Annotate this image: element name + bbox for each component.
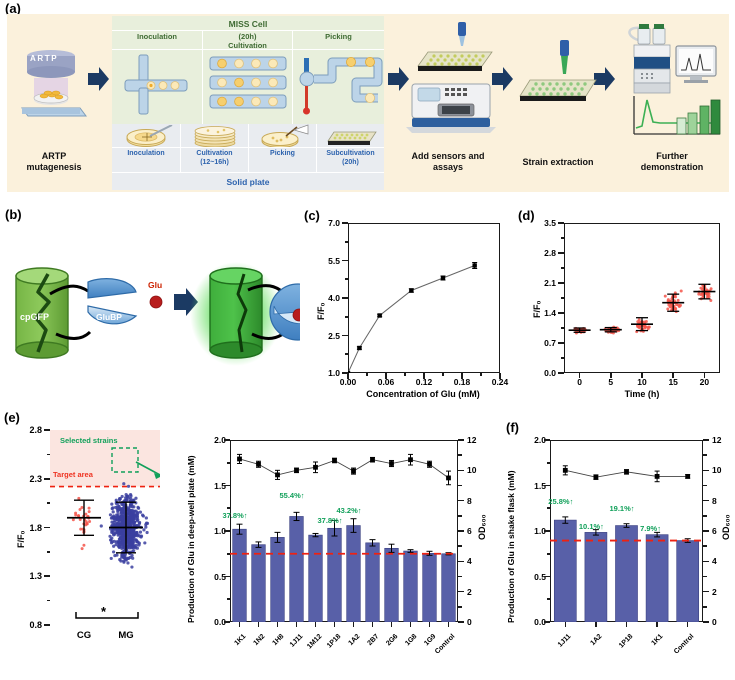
axis-tick (458, 515, 462, 517)
axis-tick (703, 515, 707, 517)
miss-col-cultivation: (20h) Cultivation (203, 32, 292, 50)
axis-tick (544, 439, 550, 441)
axis-tick (458, 454, 462, 456)
tick-label: 7.0 (314, 218, 340, 228)
plate-reader-icon (404, 76, 500, 134)
svg-text:Glu: Glu (148, 280, 162, 290)
svg-text:GluBP: GluBP (96, 312, 122, 322)
panel-c-y-axis-title: F/F₀ (316, 302, 326, 320)
divider (202, 49, 203, 124)
tick-label: 1.5 (194, 481, 226, 491)
annotation-target-area: Target area (53, 470, 93, 479)
tick-label: 3.5 (528, 218, 556, 228)
axis-tick (561, 327, 564, 329)
axis-tick (347, 373, 349, 379)
microplate-subcultivation-icon (322, 125, 380, 147)
tick-label: 8 (467, 496, 485, 506)
panel-d-y-axis-title: F/F₀ (532, 300, 542, 318)
solid-col-cultivation-l2: (12~16h) (181, 159, 248, 168)
axis-tick (458, 530, 464, 532)
axis-tick (703, 470, 709, 472)
axis-tick (558, 342, 564, 344)
axis-tick (547, 598, 551, 600)
tick-label: 0 (567, 377, 593, 387)
miss-cell-title: MISS Cell (112, 17, 384, 31)
axis-tick (703, 621, 709, 623)
panel-c-data-layer (348, 223, 500, 373)
solid-col-picking-l1: Picking (249, 150, 316, 159)
solid-col-subcultivation: Subcultivation (20h) (317, 150, 384, 167)
panel-e-bar-data-layer (230, 440, 458, 622)
axis-tick (703, 606, 707, 608)
axis-tick (544, 485, 550, 487)
panel-e-scatter: (e) 0.81.31.82.32.8 CGMG F/F₀ Selected s… (0, 408, 175, 670)
solid-col-subcultivation-l2: (20h) (317, 159, 384, 168)
panel-d-x-axis-title: Time (h) (552, 389, 732, 399)
axis-tick (458, 545, 462, 547)
process-label-further-demo: Further demonstration (620, 151, 724, 173)
axis-tick (579, 373, 581, 378)
axis-tick (224, 439, 230, 441)
solid-col-inoculation: Inoculation (112, 150, 180, 159)
tick-label: 2.0 (514, 435, 546, 445)
artp-device-label: ARTP (30, 54, 58, 63)
axis-tick (565, 622, 567, 627)
axis-tick (558, 312, 564, 314)
axis-tick (224, 621, 230, 623)
axis-tick (296, 622, 298, 627)
axis-tick (239, 622, 241, 627)
percent-increase-label: 7.9%↑ (640, 524, 661, 533)
axis-tick (227, 462, 231, 464)
picking-colony-icon (256, 124, 310, 147)
axis-tick (461, 373, 463, 379)
axis-tick (656, 622, 658, 627)
axis-tick (44, 624, 50, 626)
arrow-icon (88, 66, 110, 92)
axis-tick (626, 622, 628, 627)
petri-dish-inoculation-icon (120, 125, 176, 147)
panel-e-bar-chart: 0.00.51.01.52.0 024681012 1K11N21H81J111… (172, 408, 490, 670)
panel-d: (d) 0.00.71.42.12.83.5 05101520 Time (h)… (512, 205, 735, 405)
significance-asterisk: * (101, 604, 106, 619)
axis-tick (703, 530, 709, 532)
tick-label: 10 (712, 465, 730, 475)
cultivation-chip-icon (204, 52, 292, 122)
tick-label: 8 (712, 496, 730, 506)
panel-f-y-axis-title: Production of Glu in shake flask (mM) (506, 470, 516, 623)
tick-label: 1.3 (14, 571, 42, 581)
tick-label: 2 (712, 587, 730, 597)
tick-label: 2.8 (528, 248, 556, 258)
axis-tick (227, 598, 231, 600)
tick-label: MG (110, 630, 142, 641)
tick-label: CG (68, 630, 100, 641)
axis-tick (703, 485, 707, 487)
axis-tick (47, 551, 50, 553)
axis-tick (547, 462, 551, 464)
axis-tick (641, 373, 643, 378)
tick-label: 0.5 (514, 572, 546, 582)
axis-tick (499, 373, 501, 379)
annotation-selected-strains: Selected strains (60, 436, 118, 445)
axis-tick (558, 282, 564, 284)
process-label-add-sensors-l1: Add sensors and (396, 151, 500, 162)
axis-tick (410, 622, 412, 627)
process-label-artp: ARTP mutagenesis (14, 151, 94, 173)
panel-b-letter: (b) (5, 207, 22, 222)
picking-chip-icon (294, 52, 383, 122)
axis-tick (47, 502, 50, 504)
panel-e-letter: (e) (4, 410, 20, 425)
panel-e-data-layer (50, 430, 160, 625)
axis-tick (227, 507, 231, 509)
axis-tick (547, 507, 551, 509)
axis-tick (315, 622, 317, 627)
panel-e-bar-y2-axis-title: OD₆₀₀ (477, 514, 487, 540)
axis-tick (561, 297, 564, 299)
tick-label: 12 (467, 435, 485, 445)
axis-tick (480, 373, 482, 376)
axis-tick (448, 622, 450, 627)
further-demonstration-icon (620, 22, 726, 140)
percent-increase-label: 19.1%↑ (610, 504, 635, 513)
tick-label: 15 (660, 377, 686, 387)
axis-tick (703, 500, 709, 502)
axis-tick (547, 553, 551, 555)
tick-label: 0.0 (528, 368, 556, 378)
axis-tick (334, 622, 336, 627)
tick-label: 0.8 (14, 620, 42, 630)
panel-c-x-axis-title: Concentration of Glu (mM) (328, 389, 518, 399)
axis-tick (703, 454, 707, 456)
panel-e-y-axis-title: F/F₀ (16, 530, 26, 548)
axis-tick (458, 561, 464, 563)
strain-extraction-icon (516, 40, 600, 102)
tick-label: 2.5 (314, 331, 340, 341)
axis-tick (561, 267, 564, 269)
axis-tick (345, 316, 348, 318)
panel-f-letter: (f) (506, 420, 519, 435)
pipette-plate-icon (412, 22, 498, 74)
axis-tick (47, 454, 50, 456)
svg-text:cpGFP: cpGFP (20, 312, 49, 322)
axis-tick (544, 621, 550, 623)
axis-tick (44, 429, 50, 431)
axis-tick (224, 576, 230, 578)
percent-increase-label: 37.8%↑ (223, 511, 248, 520)
solid-col-inoculation-l1: Inoculation (112, 150, 180, 159)
axis-tick (342, 222, 348, 224)
process-label-add-sensors-l2: assays (396, 162, 500, 173)
panel-f: (f) 0.00.51.01.52.0 024681012 1J111A21P1… (492, 408, 735, 670)
solid-col-cultivation: Cultivation (12~16h) (181, 150, 248, 167)
tick-label: 1.0 (514, 526, 546, 536)
axis-tick (544, 576, 550, 578)
percent-increase-label: 43.2%↑ (337, 506, 362, 515)
axis-tick (703, 576, 707, 578)
axis-tick (345, 278, 348, 280)
axis-tick (561, 237, 564, 239)
panel-a: (a) MISS Cell Inoculation (20h) Cultivat… (0, 0, 735, 200)
process-label-further-demo-l1: Further (620, 151, 724, 162)
tick-label: 0.7 (528, 338, 556, 348)
divider (112, 172, 384, 173)
solid-col-cultivation-l1: Cultivation (181, 150, 248, 159)
axis-tick (277, 622, 279, 627)
tick-label: 10 (467, 465, 485, 475)
axis-tick (385, 373, 387, 379)
axis-tick (342, 335, 348, 337)
panel-f-data-layer (550, 440, 703, 622)
percent-increase-label: 55.4%↑ (280, 491, 305, 500)
tick-label: 4 (467, 556, 485, 566)
axis-tick (558, 222, 564, 224)
divider (292, 49, 293, 124)
axis-tick (458, 591, 464, 593)
sensor-mechanism-diagram: cpGFP GluBP Glu (8, 260, 300, 385)
axis-tick (372, 622, 374, 627)
axis-tick (442, 373, 444, 376)
axis-tick (610, 373, 612, 378)
solid-col-subcultivation-l1: Subcultivation (317, 150, 384, 159)
panel-c: (c) 1.02.54.05.57.0 0.000.060.120.180.24… (300, 205, 515, 405)
axis-tick (458, 439, 464, 441)
process-label-add-sensors: Add sensors and assays (396, 151, 500, 173)
solid-plate-title: Solid plate (112, 176, 384, 189)
panel-b: (b) (0, 205, 300, 405)
axis-tick (703, 439, 709, 441)
tick-label: 2.8 (14, 425, 42, 435)
process-label-artp-l2: mutagenesis (14, 162, 94, 173)
tick-label: 0 (467, 617, 485, 627)
tick-label: 4 (712, 556, 730, 566)
tick-label: 2.0 (194, 435, 226, 445)
stacked-plates-icon (188, 125, 242, 147)
axis-tick (458, 470, 464, 472)
panel-d-data-layer (564, 223, 720, 373)
axis-tick (258, 622, 260, 627)
inoculation-chip-icon (113, 52, 201, 122)
process-label-artp-l1: ARTP (14, 151, 94, 162)
percent-increase-label: 37.8%↑ (318, 516, 343, 525)
axis-tick (458, 621, 464, 623)
process-label-further-demo-l2: demonstration (620, 162, 724, 173)
divider (248, 124, 249, 172)
panel-f-y2-axis-title: OD₆₀₀ (721, 514, 731, 540)
axis-tick (458, 576, 462, 578)
tick-label: 1.0 (194, 526, 226, 536)
tick-label: 12 (712, 435, 730, 445)
axis-tick (672, 373, 674, 378)
axis-tick (458, 606, 462, 608)
axis-tick (558, 252, 564, 254)
axis-tick (44, 575, 50, 577)
miss-col-cultivation-name: Cultivation (203, 41, 292, 50)
miss-col-inoculation: Inoculation (112, 32, 202, 41)
axis-tick (704, 373, 706, 378)
panel-e-bar-y-axis-title: Production of Glu in deep-well plate (mM… (186, 455, 196, 623)
axis-tick (353, 622, 355, 627)
tick-label: 0 (712, 617, 730, 627)
miss-col-cultivation-time: (20h) (203, 32, 292, 41)
axis-tick (366, 373, 368, 376)
axis-tick (561, 357, 564, 359)
tick-label: 1.5 (514, 481, 546, 491)
solid-col-picking: Picking (249, 150, 316, 159)
tick-label: 2.1 (528, 278, 556, 288)
axis-tick (44, 478, 50, 480)
axis-tick (423, 373, 425, 379)
tick-label: 5.5 (314, 256, 340, 266)
axis-tick (345, 353, 348, 355)
percent-increase-label: 10.1%↑ (579, 522, 604, 531)
axis-tick (391, 622, 393, 627)
tick-label: 10 (629, 377, 655, 387)
axis-tick (558, 372, 564, 374)
axis-tick (342, 260, 348, 262)
axis-tick (703, 561, 709, 563)
tick-label: 2.3 (14, 474, 42, 484)
axis-tick (544, 530, 550, 532)
tick-label: 0.0 (194, 617, 226, 627)
process-label-strain-extraction: Strain extraction (510, 157, 606, 168)
tick-label: 0.5 (194, 572, 226, 582)
axis-tick (458, 500, 464, 502)
miss-col-picking: Picking (293, 32, 384, 41)
axis-tick (227, 553, 231, 555)
tick-label: 5 (598, 377, 624, 387)
axis-tick (342, 297, 348, 299)
tick-label: 20 (691, 377, 717, 387)
axis-tick (687, 622, 689, 627)
tick-label: 2 (467, 587, 485, 597)
axis-tick (345, 241, 348, 243)
axis-tick (595, 622, 597, 627)
axis-tick (224, 485, 230, 487)
axis-tick (703, 545, 707, 547)
axis-tick (404, 373, 406, 376)
percent-increase-label: 25.8%↑ (548, 497, 573, 506)
axis-tick (703, 591, 709, 593)
process-label-strain-extraction-l1: Strain extraction (510, 157, 606, 168)
tick-label: 0.0 (514, 617, 546, 627)
axis-tick (458, 485, 462, 487)
axis-tick (47, 600, 50, 602)
axis-tick (429, 622, 431, 627)
axis-tick (44, 527, 50, 529)
axis-tick (224, 530, 230, 532)
